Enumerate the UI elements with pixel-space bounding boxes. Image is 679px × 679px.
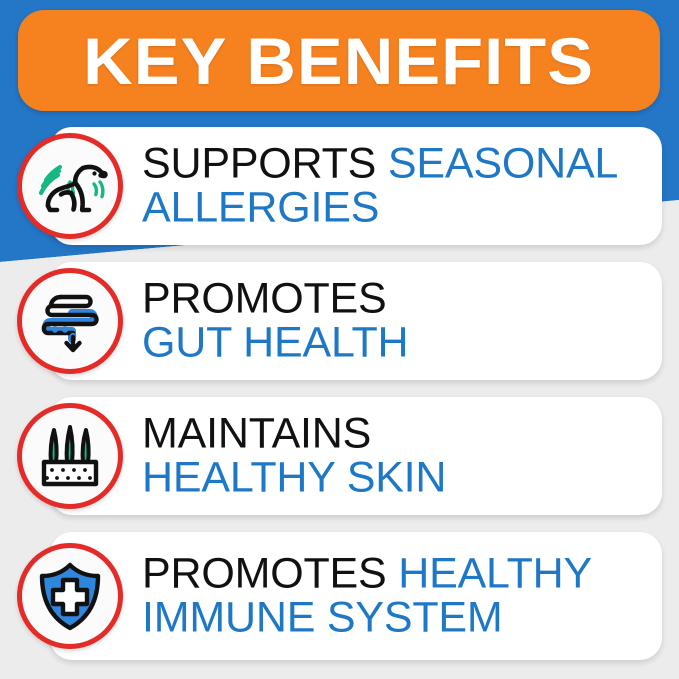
benefit-highlight-text-2: HEALTHY SKIN bbox=[142, 454, 446, 502]
benefit-text-gut-health: PROMOTES GUT HEALTH bbox=[142, 277, 648, 366]
shield-cross-icon bbox=[17, 543, 123, 649]
benefit-lead-text-0: SUPPORTS bbox=[142, 140, 388, 188]
benefit-lead-text-3: PROMOTES bbox=[142, 550, 398, 598]
benefit-text-immune-system: PROMOTES HEALTHY IMMUNE SYSTEM bbox=[142, 552, 648, 641]
scratching-dog-icon bbox=[17, 133, 123, 239]
benefit-card-healthy-skin: MAINTAINS HEALTHY SKIN bbox=[50, 397, 662, 515]
key-benefits-banner: KEY BENEFITS bbox=[18, 10, 660, 111]
benefit-text-healthy-skin: MAINTAINS HEALTHY SKIN bbox=[142, 412, 648, 501]
benefit-card-gut-health: PROMOTES GUT HEALTH bbox=[50, 262, 662, 380]
benefit-card-immune-system: PROMOTES HEALTHY IMMUNE SYSTEM bbox=[50, 532, 662, 660]
intestine-gut-icon bbox=[17, 268, 123, 374]
benefit-lead-text-2: MAINTAINS bbox=[142, 410, 371, 458]
benefit-highlight-text-1: GUT HEALTH bbox=[142, 319, 408, 367]
benefit-lead-text-1: PROMOTES bbox=[142, 275, 386, 323]
benefit-card-seasonal-allergies: SUPPORTS SEASONAL ALLERGIES bbox=[50, 127, 662, 245]
key-benefits-infographic: KEY BENEFITS SUPPORTS SEASONAL ALLERGIES bbox=[0, 0, 679, 679]
page-title: KEY BENEFITS bbox=[84, 28, 595, 94]
skin-hair-follicle-icon bbox=[17, 403, 123, 509]
benefit-text-seasonal-allergies: SUPPORTS SEASONAL ALLERGIES bbox=[142, 142, 648, 231]
